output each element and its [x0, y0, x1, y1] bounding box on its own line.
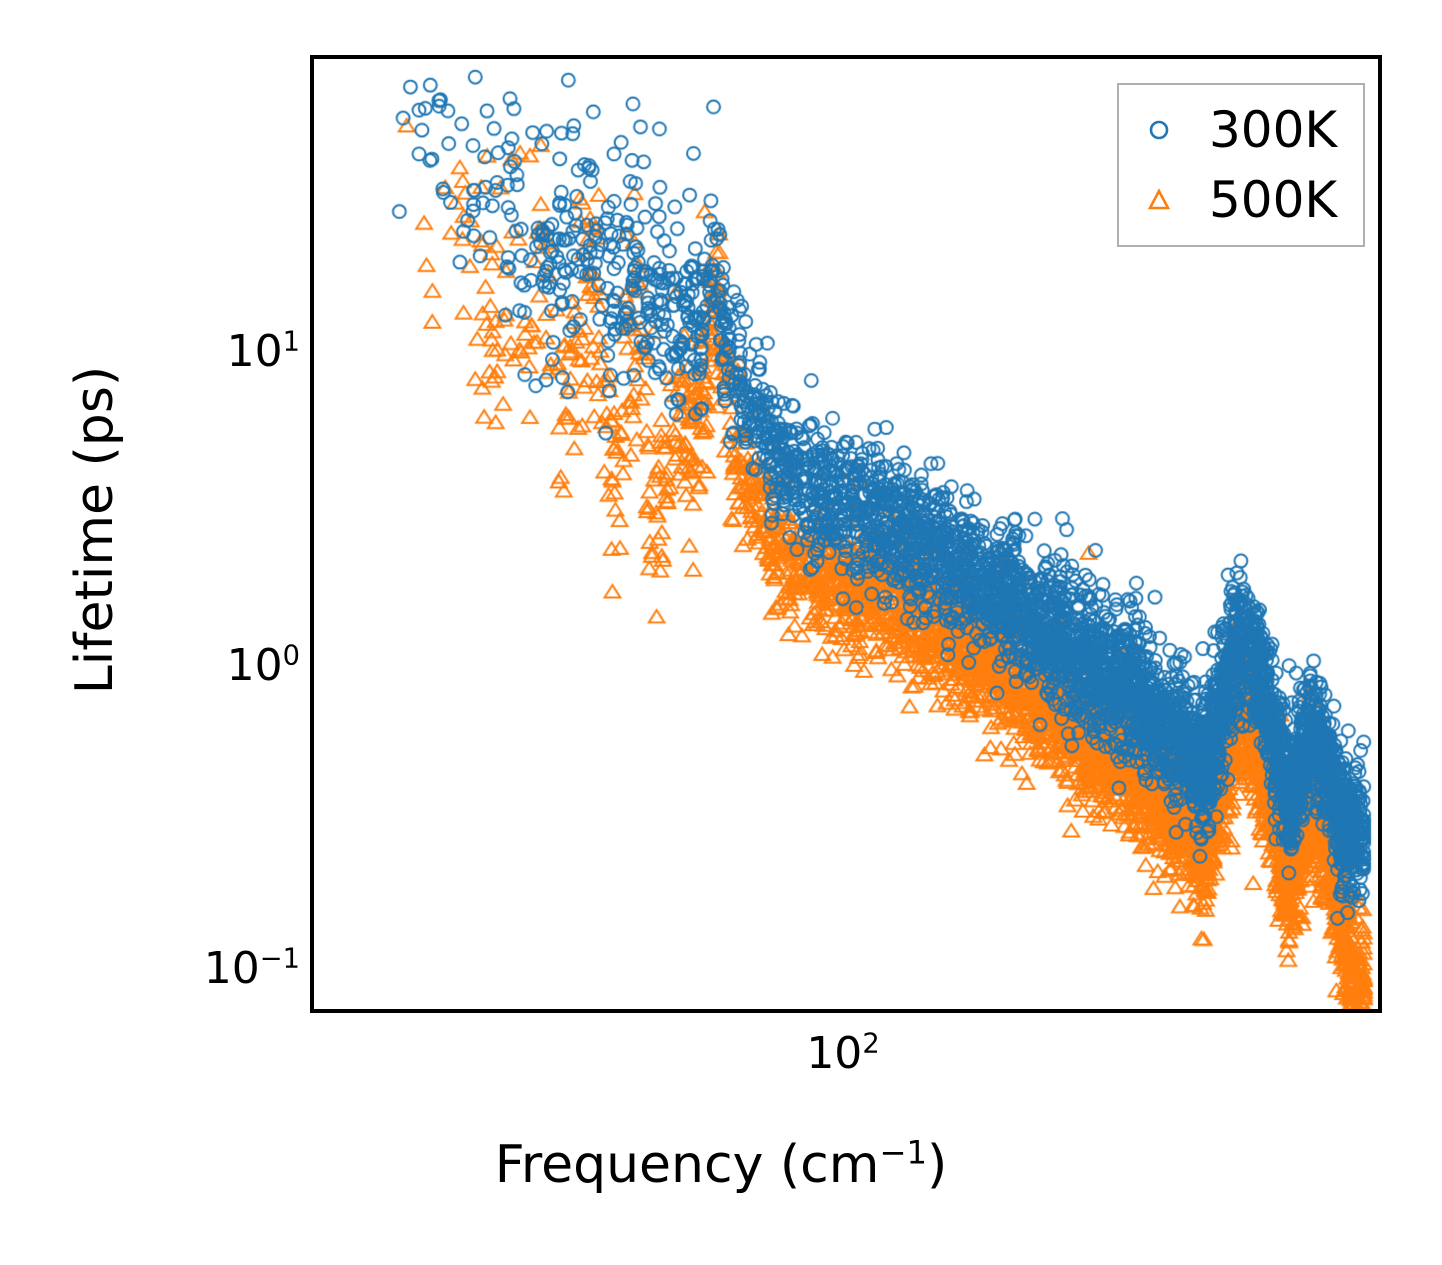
y-axis-title: Lifetime (ps) [65, 230, 125, 830]
figure-canvas: 101 100 10−1 102 300K 500K Frequency (cm… [0, 0, 1442, 1265]
y-tick-label-10e1: 101 [227, 330, 300, 374]
x-axis-title: Frequency (cm−1) [0, 1135, 1442, 1195]
y-tick-label-10e-1: 10−1 [204, 947, 300, 991]
x-tick-label-10e2: 102 [743, 1032, 943, 1076]
legend-entry-500k[interactable]: 500K [1137, 169, 1337, 231]
y-tick-label-10e0: 100 [227, 644, 300, 688]
legend-box[interactable]: 300K 500K [1117, 83, 1365, 247]
legend-label-500k: 500K [1209, 175, 1337, 225]
triangle-open-marker-icon [1137, 178, 1181, 222]
legend-entry-300k[interactable]: 300K [1137, 99, 1337, 161]
legend-label-300k: 300K [1209, 105, 1337, 155]
circle-open-marker-icon [1137, 108, 1181, 152]
